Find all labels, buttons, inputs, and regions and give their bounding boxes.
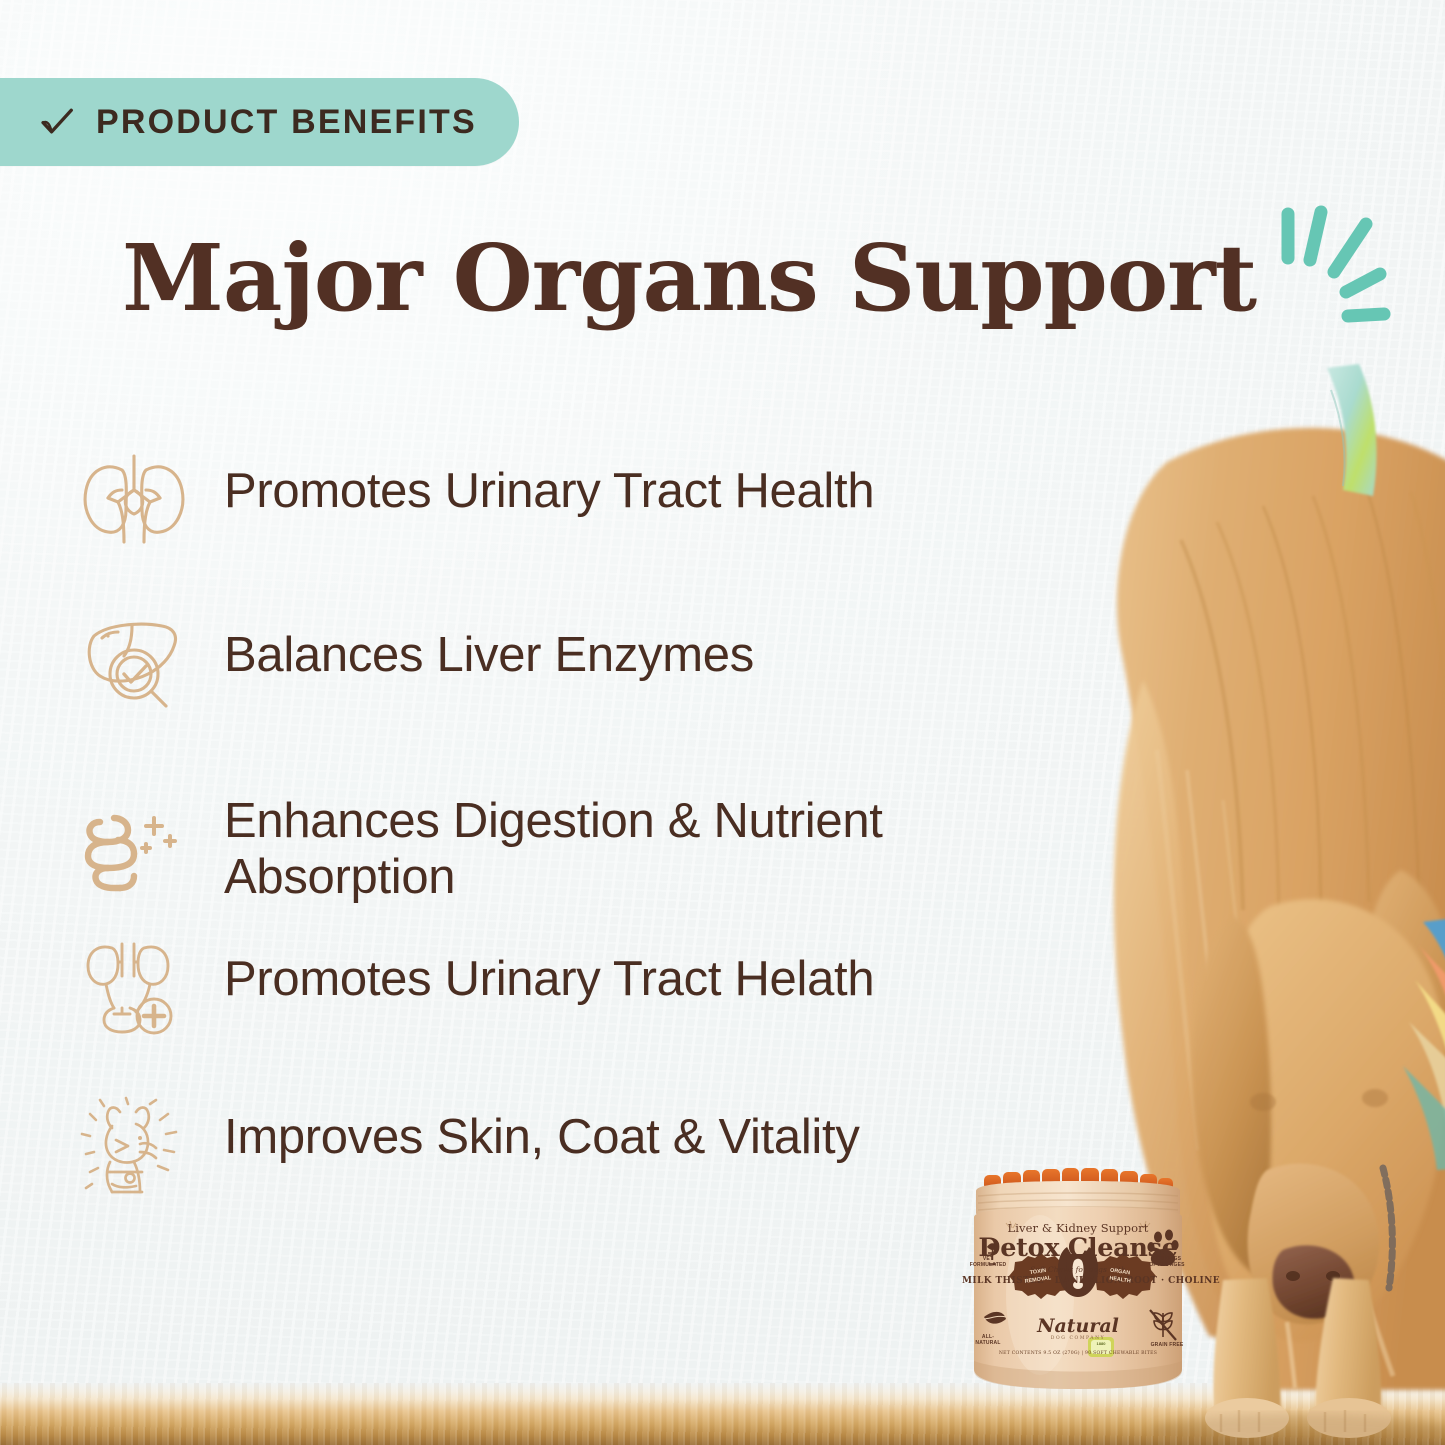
benefit-item: Balances Liver Enzymes — [78, 612, 1068, 716]
liver-magnifier-icon — [78, 612, 190, 716]
quality-seal-label: 1880 — [1090, 1341, 1112, 1346]
sparkle-burst-icon — [1266, 196, 1416, 356]
benefits-list: Promotes Urinary Tract Health Balances L… — [78, 448, 1068, 1200]
benefit-label: Enhances Digestion & Nutrient Absorption — [224, 778, 1054, 906]
kidneys-icon — [78, 446, 190, 550]
benefit-item: Promotes Urinary Tract Helath — [78, 936, 1068, 1040]
product-benefits-label: PRODUCT BENEFITS — [96, 103, 477, 142]
check-icon — [38, 103, 76, 141]
benefit-item: Enhances Digestion & Nutrient Absorption — [78, 778, 1068, 906]
dog-vitality-icon — [78, 1096, 190, 1200]
kidney-bladder-cross-icon — [78, 936, 190, 1040]
intestines-sparkle-icon — [78, 796, 190, 900]
benefit-label: Promotes Urinary Tract Helath — [224, 936, 874, 1008]
benefit-item: Promotes Urinary Tract Health — [78, 448, 1068, 550]
infographic-canvas: PRODUCT BENEFITS Major Organs Support — [0, 0, 1445, 1445]
benefit-label: Promotes Urinary Tract Health — [224, 448, 874, 520]
benefit-label: Balances Liver Enzymes — [224, 612, 754, 684]
benefit-item: Improves Skin, Coat & Vitality — [78, 1094, 1068, 1200]
quality-seal — [1088, 1337, 1114, 1357]
benefit-label: Improves Skin, Coat & Vitality — [224, 1094, 860, 1166]
product-benefits-badge: PRODUCT BENEFITS — [0, 78, 519, 166]
page-title: Major Organs Support — [122, 232, 1256, 324]
product-jar: Liver & Kidney Support Detox Cleanse Sof… — [962, 1165, 1194, 1397]
